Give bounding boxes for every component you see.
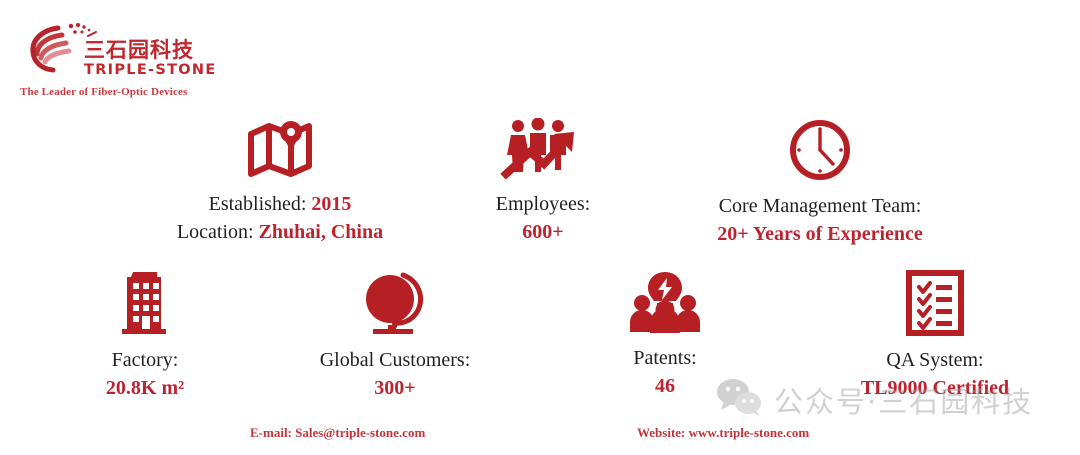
stat-established-text: Established: 2015 Location: Zhuhai, Chin… (130, 191, 430, 246)
company-logo: 三石园科技 TRIPLE-STONE The Leader of Fiber-O… (18, 18, 208, 110)
stat-established-value-1: 2015 (311, 193, 351, 215)
logo-name-cn: 三石园科技 (84, 40, 214, 61)
contact-website: Website: www.triple-stone.com (637, 425, 809, 441)
stat-employees-value: 600+ (448, 219, 638, 247)
stat-factory-label: Factory: (30, 347, 260, 375)
stat-patents-value: 46 (580, 373, 750, 401)
stat-factory-text: Factory: 20.8K m² (30, 347, 260, 402)
stat-global-customers-text: Global Customers: 300+ (280, 347, 510, 402)
stat-patents-text: Patents: 46 (580, 345, 750, 400)
stat-established-label-1: Established: (209, 193, 312, 215)
stat-qa-system-text: QA System: TL9000 Certified (815, 347, 1055, 402)
stat-factory: Factory: 20.8K m² (30, 270, 260, 402)
stat-core-management-team-value: 20+ Years of Experience (670, 221, 970, 249)
contact-email: E-mail: Sales@triple-stone.com (250, 425, 425, 441)
stat-qa-system: QA System: TL9000 Certified (815, 270, 1055, 402)
stat-established-label-2: Location: (177, 221, 259, 243)
stat-patents: Patents: 46 (580, 270, 750, 400)
stat-patents-label: Patents: (580, 345, 750, 373)
stat-global-customers-label: Global Customers: (280, 347, 510, 375)
people-growth-chart-icon (448, 118, 638, 185)
stat-core-management-team-text: Core Management Team: 20+ Years of Exper… (670, 193, 970, 248)
stat-factory-value: 20.8K m² (30, 375, 260, 403)
stat-global-customers-value: 300+ (280, 375, 510, 403)
stat-employees: Employees: 600+ (448, 118, 638, 246)
stat-established-line-1: Established: 2015 (130, 191, 430, 219)
stat-core-management-team-label: Core Management Team: (670, 193, 970, 221)
map-location-icon (130, 118, 430, 185)
stat-established: Established: 2015 Location: Zhuhai, Chin… (130, 118, 430, 246)
stat-established-line-2: Location: Zhuhai, China (130, 219, 430, 247)
logo-tagline: The Leader of Fiber-Optic Devices (20, 86, 187, 98)
stat-core-management-team: Core Management Team: 20+ Years of Exper… (670, 118, 970, 248)
clock-icon (670, 118, 970, 187)
checklist-icon (815, 270, 1055, 341)
logo-wordmark: 三石园科技 TRIPLE-STONE (84, 40, 214, 79)
stat-employees-text: Employees: 600+ (448, 191, 638, 246)
globe-icon (280, 270, 510, 341)
stat-qa-system-value: TL9000 Certified (815, 375, 1055, 403)
stat-global-customers: Global Customers: 300+ (280, 270, 510, 402)
stat-qa-system-label: QA System: (815, 347, 1055, 375)
building-icon (30, 270, 260, 341)
people-lightbulb-icon (580, 270, 750, 339)
logo-name-en: TRIPLE-STONE (84, 62, 214, 79)
stat-employees-label: Employees: (448, 191, 638, 219)
stat-established-value-2: Zhuhai, China (259, 221, 384, 243)
